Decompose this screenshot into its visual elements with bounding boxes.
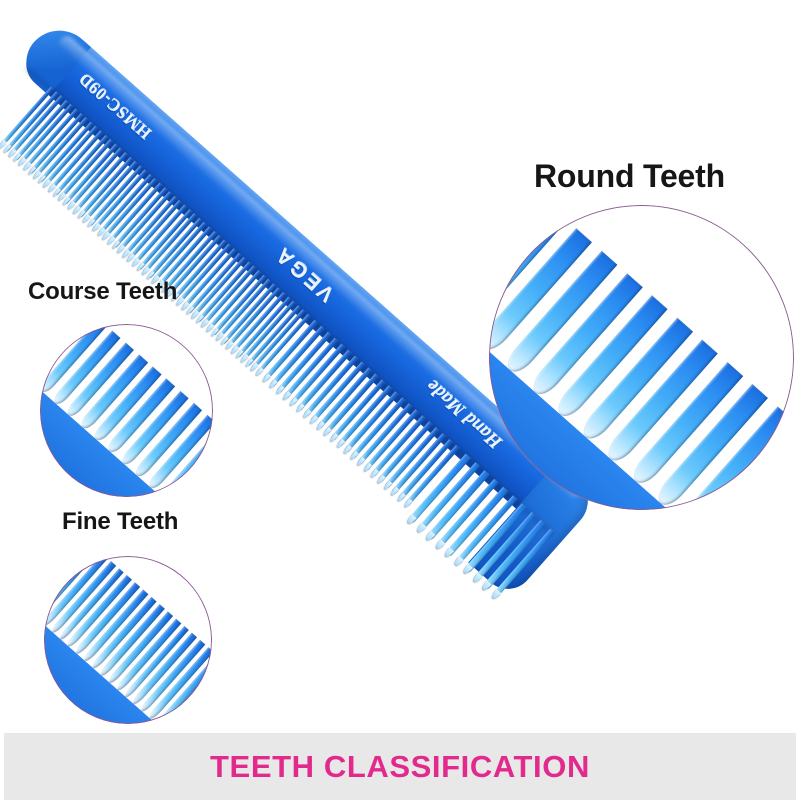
comb-tooth-gap bbox=[101, 176, 155, 236]
infographic-canvas: HMSC-09D VEGA Hand Made Round Teeth Cour… bbox=[0, 0, 800, 800]
comb-tooth-gap bbox=[219, 281, 273, 341]
comb-tooth-gap bbox=[254, 312, 308, 372]
comb-tooth-gap bbox=[401, 442, 456, 503]
comb-tooth-gap bbox=[52, 133, 106, 193]
comb-tooth-gap bbox=[195, 259, 249, 319]
comb-tooth bbox=[464, 503, 527, 573]
comb-tooth-gap bbox=[259, 316, 313, 376]
comb-tooth-gap bbox=[140, 211, 194, 271]
comb-tooth-gap bbox=[408, 448, 463, 509]
magnified-comb-section bbox=[44, 556, 212, 724]
comb-tooth-gap bbox=[273, 329, 328, 390]
comb-tooth-gap bbox=[131, 203, 185, 263]
callout-bubble-course-teeth bbox=[40, 324, 213, 497]
comb-tooth bbox=[404, 445, 459, 507]
comb-tooth bbox=[68, 148, 123, 209]
comb-tooth-gap bbox=[145, 216, 199, 276]
comb-tooth bbox=[49, 130, 104, 191]
comb-tooth bbox=[93, 169, 148, 230]
comb-tooth bbox=[492, 528, 555, 598]
comb-tooth bbox=[212, 274, 267, 335]
comb-tooth-gap bbox=[341, 389, 396, 450]
comb-tooth-gap bbox=[354, 401, 409, 462]
comb-tooth-gap bbox=[280, 335, 335, 396]
comb-tooth-gap bbox=[200, 264, 254, 324]
magnified-round-teeth bbox=[489, 205, 794, 510]
comb-tooth bbox=[207, 270, 262, 331]
comb-tooth-gap bbox=[150, 220, 204, 280]
comb-tooth-gap bbox=[314, 365, 369, 426]
comb-tooth bbox=[290, 344, 345, 406]
comb-tooth-gap bbox=[121, 194, 175, 254]
comb-tooth-gap bbox=[294, 347, 349, 408]
comb-tooth bbox=[391, 433, 446, 495]
comb-tooth-gap bbox=[66, 146, 120, 206]
comb-tooth bbox=[172, 239, 227, 300]
comb-tooth-gap bbox=[234, 294, 288, 354]
comb-tooth bbox=[182, 248, 237, 309]
comb-tooth bbox=[187, 252, 242, 313]
comb-tooth-gap bbox=[170, 238, 224, 298]
comb-tooth bbox=[108, 183, 163, 244]
comb-tooth-gap bbox=[91, 168, 145, 228]
comb-tooth bbox=[202, 266, 257, 327]
comb-tooth-gap bbox=[27, 111, 81, 171]
comb-tooth bbox=[103, 178, 158, 239]
comb-tooth bbox=[34, 117, 89, 178]
comb-tooth bbox=[398, 439, 453, 501]
comb-tooth bbox=[482, 520, 545, 590]
comb-tooth bbox=[256, 314, 311, 375]
callout-bubble-fine-teeth bbox=[44, 556, 212, 724]
comb-tooth bbox=[152, 222, 207, 283]
magnified-comb-section bbox=[40, 324, 213, 497]
comb-tooth bbox=[39, 121, 94, 182]
comb-tooth bbox=[297, 350, 352, 412]
comb-tooth bbox=[78, 156, 133, 217]
comb-tooth-gap bbox=[42, 124, 96, 184]
magnified-fine-teeth bbox=[44, 556, 212, 724]
comb-tooth-gap bbox=[327, 377, 382, 438]
comb-tooth-gap bbox=[307, 359, 362, 420]
comb-tooth-gap bbox=[431, 474, 494, 544]
comb-tooth-gap bbox=[81, 159, 135, 219]
comb-tooth bbox=[384, 427, 439, 489]
comb-tooth bbox=[4, 91, 59, 152]
comb-tooth bbox=[14, 100, 69, 161]
comb-tooth bbox=[177, 244, 232, 305]
comb-tooth-gap bbox=[7, 93, 61, 153]
comb-tooth bbox=[310, 361, 365, 423]
comb-tooth-gap bbox=[412, 458, 475, 528]
comb-tooth bbox=[241, 301, 296, 362]
comb-tooth bbox=[44, 126, 99, 187]
comb-tooth bbox=[137, 209, 192, 270]
comb-tooth bbox=[364, 409, 419, 471]
callout-label-course-teeth: Course Teeth bbox=[28, 278, 177, 306]
comb-tooth bbox=[283, 338, 338, 400]
comb-tooth bbox=[236, 296, 291, 357]
comb-tooth bbox=[88, 165, 143, 226]
comb-tooth-gap bbox=[381, 424, 436, 485]
comb-tooth bbox=[263, 320, 318, 382]
comb-brand-engraving: VEGA bbox=[270, 241, 339, 306]
comb-tooth-gap bbox=[469, 508, 532, 578]
comb-tooth-gap bbox=[388, 430, 443, 491]
comb-tooth bbox=[63, 143, 118, 204]
comb-tooth bbox=[98, 174, 153, 235]
comb-tooth-gap bbox=[116, 190, 170, 250]
comb-tooth-gap bbox=[190, 255, 244, 315]
comb-tooth bbox=[303, 355, 358, 417]
comb-tooth-gap bbox=[347, 395, 402, 456]
comb-tooth-gap bbox=[497, 532, 560, 602]
comb-tooth-gap bbox=[12, 98, 66, 158]
comb-tooth-gap bbox=[205, 268, 259, 328]
comb-tooth bbox=[407, 454, 470, 524]
comb-tooth bbox=[226, 287, 281, 348]
comb-tooth-gap bbox=[126, 198, 180, 258]
magnified-course-teeth bbox=[40, 324, 213, 497]
comb-tooth-gap bbox=[136, 207, 190, 267]
comb-tooth-gap bbox=[155, 225, 209, 285]
comb-tooth-gap bbox=[249, 308, 303, 368]
callout-bubble-round-teeth bbox=[489, 205, 794, 510]
comb-tooth-gap bbox=[106, 181, 160, 241]
comb-tooth bbox=[270, 326, 325, 388]
comb-tooth bbox=[276, 332, 331, 394]
comb-tooth bbox=[473, 512, 536, 582]
comb-tooth bbox=[83, 161, 138, 222]
comb-tooth-gap bbox=[334, 383, 389, 444]
callout-label-round-teeth: Round Teeth bbox=[534, 158, 725, 195]
comb-tooth bbox=[197, 261, 252, 322]
comb-tooth-gap bbox=[422, 466, 485, 536]
magnified-comb-section bbox=[489, 205, 794, 510]
comb-tooth bbox=[371, 415, 426, 477]
comb-tooth-gap bbox=[61, 142, 115, 202]
comb-tooth-gap bbox=[244, 303, 298, 363]
comb-tooth bbox=[330, 379, 385, 441]
comb-tooth-gap bbox=[229, 290, 283, 350]
comb-tooth-gap bbox=[239, 299, 293, 359]
comb-tooth bbox=[246, 305, 301, 366]
comb-tooth-gap bbox=[22, 107, 76, 167]
comb-tooth bbox=[118, 191, 173, 252]
comb-tooth bbox=[24, 108, 79, 169]
comb-tooth bbox=[337, 385, 392, 447]
comb-tooth-gap bbox=[368, 412, 423, 473]
comb-tooth bbox=[350, 397, 405, 459]
comb-tooth-gap bbox=[180, 246, 234, 306]
comb-tooth bbox=[19, 104, 74, 165]
comb-tooth-gap bbox=[17, 102, 71, 162]
comb-model-engraving: HMSC-09D bbox=[75, 69, 156, 144]
comb-tooth-gap bbox=[71, 150, 125, 210]
comb-tooth bbox=[0, 86, 54, 147]
comb-tooth bbox=[53, 135, 108, 196]
comb-tooth-gap bbox=[32, 115, 86, 175]
comb-tooth-gap bbox=[2, 89, 56, 149]
comb-tooth bbox=[73, 152, 128, 213]
comb-tooth-gap bbox=[395, 436, 450, 497]
comb-tooth bbox=[216, 279, 271, 340]
comb-tooth-gap bbox=[86, 163, 140, 223]
comb-tooth bbox=[128, 200, 183, 261]
comb-tooth-gap bbox=[361, 406, 416, 467]
comb-course-teeth-zone bbox=[263, 320, 464, 511]
comb-tooth-gap bbox=[185, 251, 239, 311]
comb-tooth bbox=[58, 139, 113, 200]
comb-tooth-gap bbox=[374, 418, 429, 479]
comb-tooth bbox=[231, 292, 286, 353]
comb-tooth bbox=[133, 204, 188, 265]
comb-tooth-gap bbox=[487, 524, 550, 594]
comb-tooth bbox=[221, 283, 276, 344]
comb-tooth bbox=[142, 213, 197, 274]
comb-tooth-gap bbox=[47, 128, 101, 188]
comb-tooth bbox=[29, 113, 84, 174]
comb-tooth bbox=[113, 187, 168, 248]
callout-label-fine-teeth: Fine Teeth bbox=[62, 508, 178, 536]
comb-tooth-gap bbox=[287, 341, 342, 402]
comb-tooth-gap bbox=[478, 516, 541, 586]
comb-tooth bbox=[377, 421, 432, 483]
comb-tooth-gap bbox=[210, 273, 264, 333]
comb-tooth bbox=[123, 196, 178, 257]
comb-tooth bbox=[417, 462, 480, 532]
comb-tooth bbox=[426, 470, 489, 540]
comb-tooth-gap bbox=[76, 155, 130, 215]
comb-tooth-gap bbox=[320, 371, 375, 432]
comb-tooth-gap bbox=[96, 172, 150, 232]
comb-tooth-gap bbox=[267, 323, 322, 384]
comb-tooth bbox=[251, 309, 306, 370]
comb-tooth bbox=[317, 367, 372, 429]
comb-tooth-gap bbox=[224, 286, 278, 346]
comb-tooth-gap bbox=[56, 137, 110, 197]
comb-tooth-gap bbox=[215, 277, 269, 337]
bottom-banner: TEETH CLASSIFICATION bbox=[4, 733, 796, 800]
comb-tooth bbox=[323, 373, 378, 435]
comb-tooth bbox=[9, 95, 64, 156]
comb-tooth-gap bbox=[37, 120, 91, 180]
comb-tooth-gap bbox=[111, 185, 165, 245]
comb-tooth-gap bbox=[175, 242, 229, 302]
comb-tooth bbox=[147, 218, 202, 279]
comb-tooth bbox=[357, 403, 412, 465]
comb-tooth bbox=[192, 257, 247, 318]
comb-tooth-gap bbox=[300, 353, 355, 414]
banner-title: TEETH CLASSIFICATION bbox=[210, 749, 590, 785]
comb-left-tip bbox=[14, 17, 91, 95]
comb-tooth bbox=[344, 391, 399, 453]
